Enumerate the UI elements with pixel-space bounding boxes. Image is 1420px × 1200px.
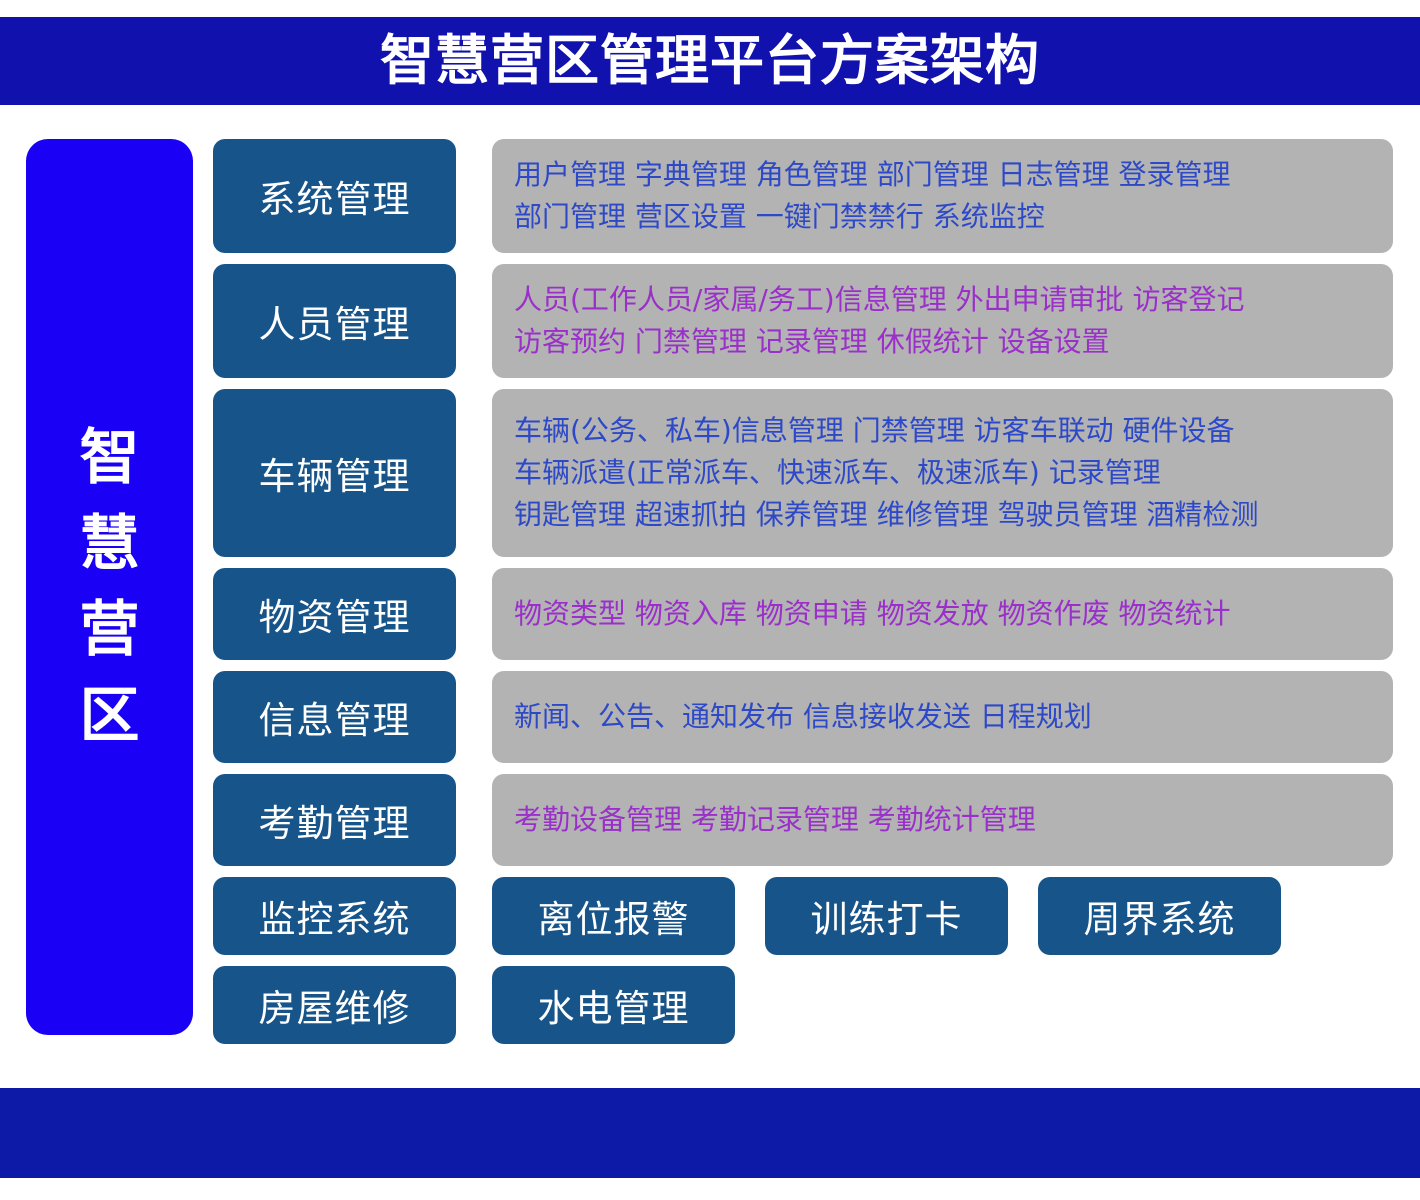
feature-line: 钥匙管理 超速抓拍 保养管理 维修管理 驾驶员管理 酒精检测: [514, 497, 1371, 533]
brand-panel: 智 慧 营 区: [26, 139, 193, 1035]
footer-bar: [0, 1088, 1420, 1178]
subsystem-chip-seat-leave-alarm[interactable]: 离位报警: [492, 877, 735, 955]
module-row: 物资管理 物资类型 物资入库 物资申请 物资发放 物资作废 物资统计: [213, 568, 1393, 660]
feature-panel: 用户管理 字典管理 角色管理 部门管理 日志管理 登录管理 部门管理 营区设置 …: [492, 139, 1393, 253]
feature-line: 考勤设备管理 考勤记录管理 考勤统计管理: [514, 802, 1371, 838]
feature-panel: 新闻、公告、通知发布 信息接收发送 日程规划: [492, 671, 1393, 763]
module-label-information[interactable]: 信息管理: [213, 671, 456, 763]
feature-line: 物资类型 物资入库 物资申请 物资发放 物资作废 物资统计: [514, 596, 1371, 632]
diagram-canvas: 智慧营区管理平台方案架构 智 慧 营 区 系统管理 用户管理 字典管理 角色管理…: [0, 0, 1420, 1200]
feature-line: 用户管理 字典管理 角色管理 部门管理 日志管理 登录管理: [514, 157, 1371, 193]
feature-line: 部门管理 营区设置 一键门禁禁行 系统监控: [514, 199, 1371, 235]
module-row: 系统管理 用户管理 字典管理 角色管理 部门管理 日志管理 登录管理 部门管理 …: [213, 139, 1393, 253]
feature-panel: 人员(工作人员/家属/务工)信息管理 外出申请审批 访客登记 访客预约 门禁管理…: [492, 264, 1393, 378]
brand-char: 智: [80, 428, 140, 488]
page-title: 智慧营区管理平台方案架构: [380, 34, 1040, 88]
module-row: 信息管理 新闻、公告、通知发布 信息接收发送 日程规划: [213, 671, 1393, 763]
module-rows: 系统管理 用户管理 字典管理 角色管理 部门管理 日志管理 登录管理 部门管理 …: [213, 139, 1393, 1055]
brand-char: 区: [80, 686, 140, 746]
module-label-attendance[interactable]: 考勤管理: [213, 774, 456, 866]
feature-panel: 物资类型 物资入库 物资申请 物资发放 物资作废 物资统计: [492, 568, 1393, 660]
module-body: 车辆(公务、私车)信息管理 门禁管理 访客车联动 硬件设备 车辆派遣(正常派车、…: [492, 389, 1393, 557]
module-label-surveillance[interactable]: 监控系统: [213, 877, 456, 955]
module-label-vehicle[interactable]: 车辆管理: [213, 389, 456, 557]
module-body: 人员(工作人员/家属/务工)信息管理 外出申请审批 访客登记 访客预约 门禁管理…: [492, 264, 1393, 378]
brand-char: 营: [80, 600, 140, 660]
feature-line: 访客预约 门禁管理 记录管理 休假统计 设备设置: [514, 324, 1371, 360]
feature-panel: 考勤设备管理 考勤记录管理 考勤统计管理: [492, 774, 1393, 866]
module-label-personnel[interactable]: 人员管理: [213, 264, 456, 378]
feature-line: 人员(工作人员/家属/务工)信息管理 外出申请审批 访客登记: [514, 282, 1371, 318]
subsystem-chip-training-checkin[interactable]: 训练打卡: [765, 877, 1008, 955]
module-body: 用户管理 字典管理 角色管理 部门管理 日志管理 登录管理 部门管理 营区设置 …: [492, 139, 1393, 253]
feature-panel: 车辆(公务、私车)信息管理 门禁管理 访客车联动 硬件设备 车辆派遣(正常派车、…: [492, 389, 1393, 557]
feature-line: 车辆派遣(正常派车、快速派车、极速派车) 记录管理: [514, 455, 1371, 491]
subsystem-chip-perimeter-system[interactable]: 周界系统: [1038, 877, 1281, 955]
subsystem-chip-group: 离位报警 训练打卡 周界系统: [492, 877, 1393, 955]
brand-char: 慧: [80, 514, 140, 574]
module-body: 离位报警 训练打卡 周界系统: [492, 877, 1393, 955]
module-label-materials[interactable]: 物资管理: [213, 568, 456, 660]
feature-line: 车辆(公务、私车)信息管理 门禁管理 访客车联动 硬件设备: [514, 413, 1371, 449]
feature-line: 新闻、公告、通知发布 信息接收发送 日程规划: [514, 699, 1371, 735]
module-body: 新闻、公告、通知发布 信息接收发送 日程规划: [492, 671, 1393, 763]
module-row: 车辆管理 车辆(公务、私车)信息管理 门禁管理 访客车联动 硬件设备 车辆派遣(…: [213, 389, 1393, 557]
module-row: 监控系统 离位报警 训练打卡 周界系统: [213, 877, 1393, 955]
header-bar: 智慧营区管理平台方案架构: [0, 17, 1420, 105]
module-body: 水电管理: [492, 966, 1393, 1044]
module-row: 人员管理 人员(工作人员/家属/务工)信息管理 外出申请审批 访客登记 访客预约…: [213, 264, 1393, 378]
subsystem-chip-group: 水电管理: [492, 966, 1393, 1044]
module-body: 考勤设备管理 考勤记录管理 考勤统计管理: [492, 774, 1393, 866]
module-label-housing-repair[interactable]: 房屋维修: [213, 966, 456, 1044]
subsystem-chip-utilities[interactable]: 水电管理: [492, 966, 735, 1044]
module-label-system[interactable]: 系统管理: [213, 139, 456, 253]
module-row: 考勤管理 考勤设备管理 考勤记录管理 考勤统计管理: [213, 774, 1393, 866]
module-body: 物资类型 物资入库 物资申请 物资发放 物资作废 物资统计: [492, 568, 1393, 660]
module-row: 房屋维修 水电管理: [213, 966, 1393, 1044]
